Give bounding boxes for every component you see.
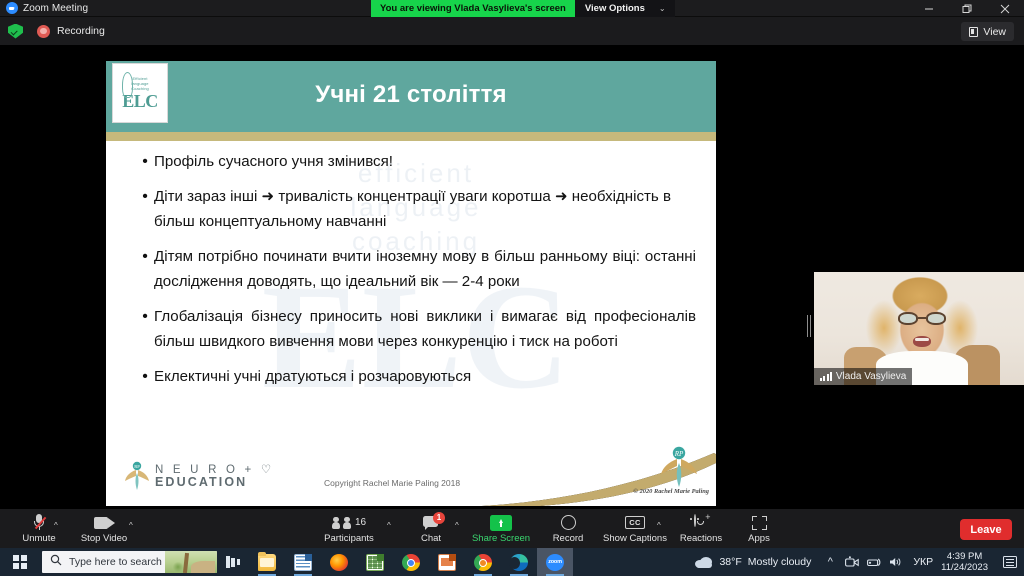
notification-icon <box>1003 556 1017 568</box>
writer-document-icon <box>294 554 312 571</box>
maximize-button[interactable] <box>948 0 986 17</box>
chat-bubble-icon: 1 <box>423 513 439 532</box>
participant-name-text: Vlada Vasylieva <box>836 371 906 382</box>
notification-center-button[interactable] <box>996 548 1024 576</box>
bullet-text: Профіль сучасного учня змінився! <box>154 149 696 175</box>
view-layout-button[interactable]: View <box>961 22 1014 41</box>
list-item: • Глобалізація бізнесу приносить нові ви… <box>136 304 696 355</box>
list-item: • Профіль сучасного учня змінився! <box>136 149 696 175</box>
search-highlight-image <box>165 551 217 573</box>
taskbar-app-file-explorer[interactable] <box>249 548 285 576</box>
svg-text:RP: RP <box>134 464 140 469</box>
minimize-button[interactable] <box>910 0 948 17</box>
rachel-marie-paling-logo: RP <box>660 446 698 488</box>
zoom-meeting-toolbar: Unmute ^ Stop Video ^ 16 Participants ^ … <box>0 509 1024 548</box>
recording-indicator-icon[interactable] <box>37 25 50 38</box>
taskbar-app-firefox[interactable] <box>321 548 357 576</box>
taskbar-app-calc[interactable] <box>357 548 393 576</box>
slide-bullet-list: • Профіль сучасного учня змінився! • Діт… <box>136 149 696 398</box>
weather-description: Mostly cloudy <box>748 556 812 568</box>
bullet-text: Діти зараз інші ➜ тривалість концентраці… <box>154 184 696 235</box>
wings-icon: RP <box>124 461 150 491</box>
slide-gold-band <box>106 132 716 141</box>
shield-icon <box>8 24 23 39</box>
taskbar-app-impress[interactable] <box>429 548 465 576</box>
neuro-education-logo: RP N E U R O + ♡ EDUCATION <box>124 461 274 491</box>
taskbar-weather-widget[interactable]: 38°F Mostly cloudy <box>687 556 819 568</box>
taskbar-app-edge[interactable] <box>501 548 537 576</box>
impress-presentation-icon <box>438 554 456 571</box>
video-detail <box>913 336 931 347</box>
video-options-chevron-icon[interactable]: ^ <box>129 521 133 530</box>
signal-bars-icon <box>820 372 832 381</box>
reactions-button[interactable]: + Reactions <box>670 513 732 544</box>
participant-video-thumbnail[interactable]: Vlada Vasylieva <box>814 272 1024 385</box>
window-title: Zoom Meeting <box>23 3 88 14</box>
shared-screen-area[interactable]: Efficient language Coaching ELC Учні 21 … <box>45 57 767 505</box>
chrome-beta-icon <box>474 554 492 571</box>
cc-glyph: CC <box>625 516 645 529</box>
zoom-title-bar: Zoom Meeting You are viewing Vlada Vasyl… <box>0 0 1024 17</box>
microphone-muted-icon <box>34 513 45 532</box>
people-icon: 16 <box>332 513 366 532</box>
presentation-slide: Efficient language Coaching ELC Учні 21 … <box>106 61 716 506</box>
stop-video-button[interactable]: Stop Video <box>73 513 135 544</box>
share-screen-icon <box>490 513 512 532</box>
start-button[interactable] <box>0 548 40 576</box>
bullet-text: Еклектичні учні дратуються і розчаровуют… <box>154 364 696 390</box>
zoom-icon: zoom <box>546 554 564 571</box>
firefox-icon <box>330 554 348 571</box>
tray-network-icon[interactable] <box>863 548 885 576</box>
participants-chevron-icon[interactable]: ^ <box>387 521 391 530</box>
taskbar-app-writer[interactable] <box>285 548 321 576</box>
list-item: • Дітям потрібно починати вчити іноземну… <box>136 244 696 295</box>
calc-spreadsheet-icon <box>366 554 384 571</box>
camera-icon <box>94 513 115 532</box>
participants-count: 16 <box>355 517 366 528</box>
window-controls <box>910 0 1024 17</box>
system-tray: 38°F Mostly cloudy ^ УК <box>687 548 1024 576</box>
unmute-button[interactable]: Unmute <box>8 513 70 544</box>
neuro-education-text: N E U R O + ♡ EDUCATION <box>155 464 274 488</box>
bullet-text: Глобалізація бізнесу приносить нові викл… <box>154 304 696 355</box>
bullet-icon: • <box>136 184 154 235</box>
clock-time: 4:39 PM <box>941 551 988 562</box>
captions-chevron-icon[interactable]: ^ <box>657 521 661 530</box>
chevron-down-icon: ⌄ <box>659 4 666 13</box>
taskbar-app-chrome-beta[interactable] <box>465 548 501 576</box>
participants-label: Participants <box>324 533 374 544</box>
stop-video-label: Stop Video <box>81 533 127 544</box>
svg-text:RP: RP <box>674 450 684 458</box>
bullet-icon: • <box>136 364 154 390</box>
shared-screen-stage: Efficient language Coaching ELC Учні 21 … <box>0 45 1024 509</box>
list-item: • Еклектичні учні дратуються і розчарову… <box>136 364 696 390</box>
reactions-label: Reactions <box>680 533 722 544</box>
bullet-icon: • <box>136 244 154 295</box>
video-panel-drag-handle[interactable] <box>807 315 812 337</box>
bullet-icon: • <box>136 304 154 355</box>
tray-overflow-chevron-icon[interactable]: ^ <box>819 548 841 576</box>
task-view-button[interactable] <box>217 548 249 576</box>
search-placeholder: Type here to search <box>69 556 162 568</box>
record-circle-icon <box>561 513 576 532</box>
record-button[interactable]: Record <box>537 513 599 544</box>
chat-chevron-icon[interactable]: ^ <box>455 521 459 530</box>
bullet-icon: • <box>136 149 154 175</box>
screen-share-banner-group: You are viewing Vlada Vasylieva's screen… <box>371 0 675 17</box>
apps-icon <box>752 513 767 532</box>
show-captions-label: Show Captions <box>603 533 667 544</box>
layout-icon <box>969 27 978 37</box>
taskbar-search-input[interactable]: Type here to search <box>42 551 217 573</box>
view-options-label: View Options <box>585 3 645 14</box>
task-view-icon <box>226 556 241 568</box>
participants-button[interactable]: 16 Participants <box>318 513 380 544</box>
file-explorer-icon <box>258 554 276 571</box>
audio-options-chevron-icon[interactable]: ^ <box>54 521 58 530</box>
taskbar-app-zoom[interactable]: zoom <box>537 548 573 576</box>
windows-taskbar: Type here to search zoom 38°F Mostly clo… <box>0 548 1024 576</box>
slide-copyright-small: © 2020 Rachel Marie Paling <box>633 488 709 495</box>
slide-title: Учні 21 століття <box>106 81 716 109</box>
unmute-label: Unmute <box>22 533 55 544</box>
close-button[interactable] <box>986 0 1024 17</box>
taskbar-app-chrome[interactable] <box>393 548 429 576</box>
chat-button[interactable]: 1 Chat <box>400 513 462 544</box>
slide-copyright: Copyright Rachel Marie Paling 2018 <box>324 478 460 488</box>
view-button-label: View <box>983 26 1006 38</box>
tray-camera-icon[interactable] <box>841 548 863 576</box>
apps-label: Apps <box>748 533 770 544</box>
recording-status-bar: Recording View <box>0 17 1024 45</box>
leave-meeting-button[interactable]: Leave <box>960 519 1012 540</box>
tray-volume-icon[interactable] <box>885 548 907 576</box>
video-detail <box>898 312 946 325</box>
edge-icon <box>510 554 528 571</box>
bullet-text: Дітям потрібно починати вчити іноземну м… <box>154 244 696 295</box>
taskbar-clock[interactable]: 4:39 PM 11/24/2023 <box>939 551 996 573</box>
record-label: Record <box>553 533 584 544</box>
screen-share-banner: You are viewing Vlada Vasylieva's screen <box>371 0 575 17</box>
reactions-smiley-icon: + <box>694 513 709 532</box>
view-options-dropdown[interactable]: View Options ⌄ <box>575 0 675 17</box>
search-icon <box>50 553 62 571</box>
recording-label: Recording <box>57 25 105 37</box>
chat-unread-badge: 1 <box>433 512 445 524</box>
input-language-indicator[interactable]: УКР <box>907 556 939 568</box>
weather-temperature: 38°F <box>719 556 741 568</box>
clock-date: 11/24/2023 <box>941 562 988 573</box>
participant-name-label: Vlada Vasylieva <box>814 368 912 385</box>
share-screen-label: Share Screen <box>472 533 530 544</box>
windows-logo-icon <box>13 555 27 569</box>
chat-label: Chat <box>421 533 441 544</box>
cloud-icon <box>695 557 713 568</box>
neuro-line-2: EDUCATION <box>155 476 274 488</box>
list-item: • Діти зараз інші ➜ тривалість концентра… <box>136 184 696 235</box>
zoom-logo-icon <box>6 2 18 14</box>
share-screen-button[interactable]: Share Screen <box>470 513 532 544</box>
apps-button[interactable]: Apps <box>728 513 790 544</box>
closed-captions-icon: CC <box>625 513 645 532</box>
chrome-icon <box>402 554 420 571</box>
